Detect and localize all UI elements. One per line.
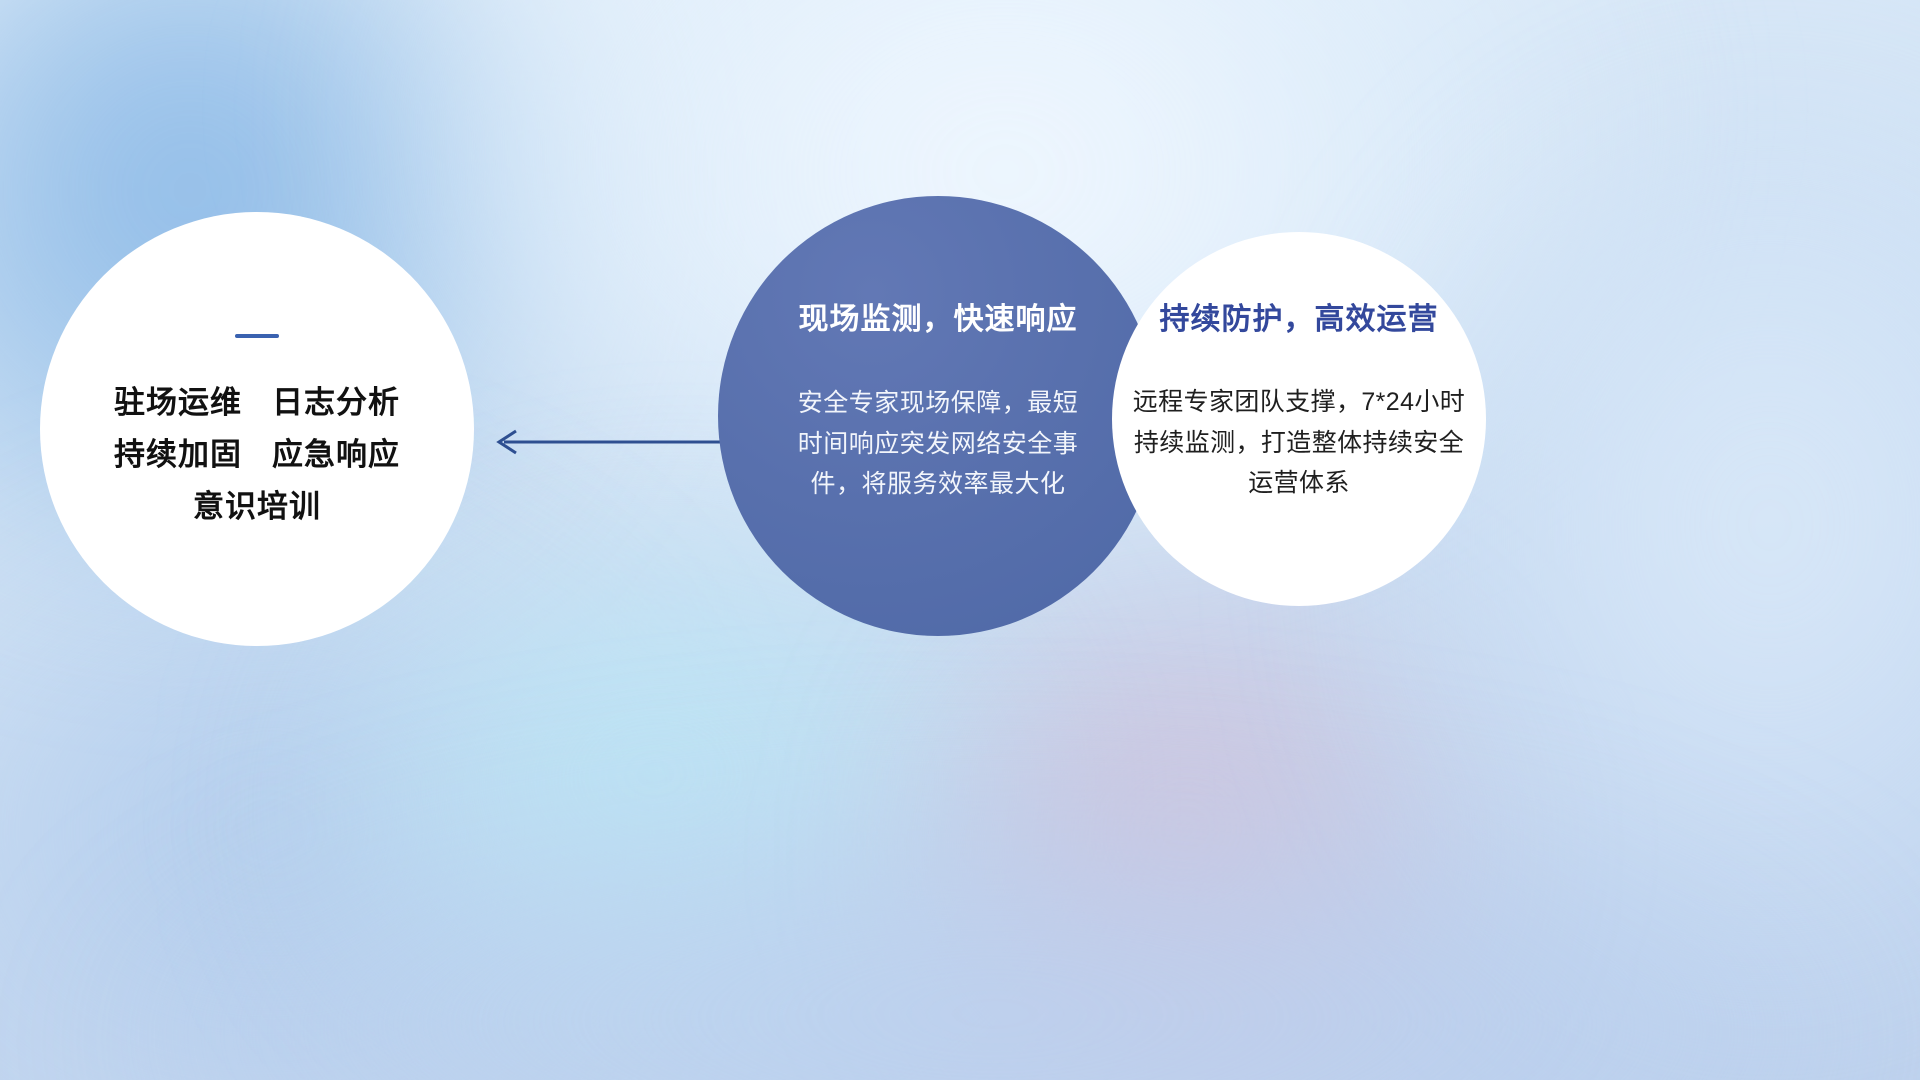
capability-label: 应急响应 — [272, 437, 400, 472]
list-item: 意识培训 — [193, 490, 321, 524]
capability-label: 日志分析 — [272, 385, 400, 420]
capability-label: 持续加固 — [114, 437, 242, 472]
middle-circle-shape — [718, 196, 1158, 636]
left-circle-capability-list: 驻场运维日志分析 持续加固应急响应 意识培训 — [114, 386, 400, 524]
capability-label: 意识培训 — [193, 489, 321, 524]
list-item: 持续加固应急响应 — [114, 438, 400, 472]
right-circle-shape — [1112, 232, 1486, 606]
left-circle-divider-icon — [235, 334, 279, 338]
slide-canvas: 驻场运维日志分析 持续加固应急响应 意识培训 现场监测，快速响应 安全专家现场保… — [0, 0, 1920, 1080]
left-circle: 驻场运维日志分析 持续加固应急响应 意识培训 — [40, 212, 474, 646]
arrow-connector — [490, 420, 730, 464]
list-item: 驻场运维日志分析 — [114, 386, 400, 420]
capability-label: 驻场运维 — [114, 385, 242, 420]
